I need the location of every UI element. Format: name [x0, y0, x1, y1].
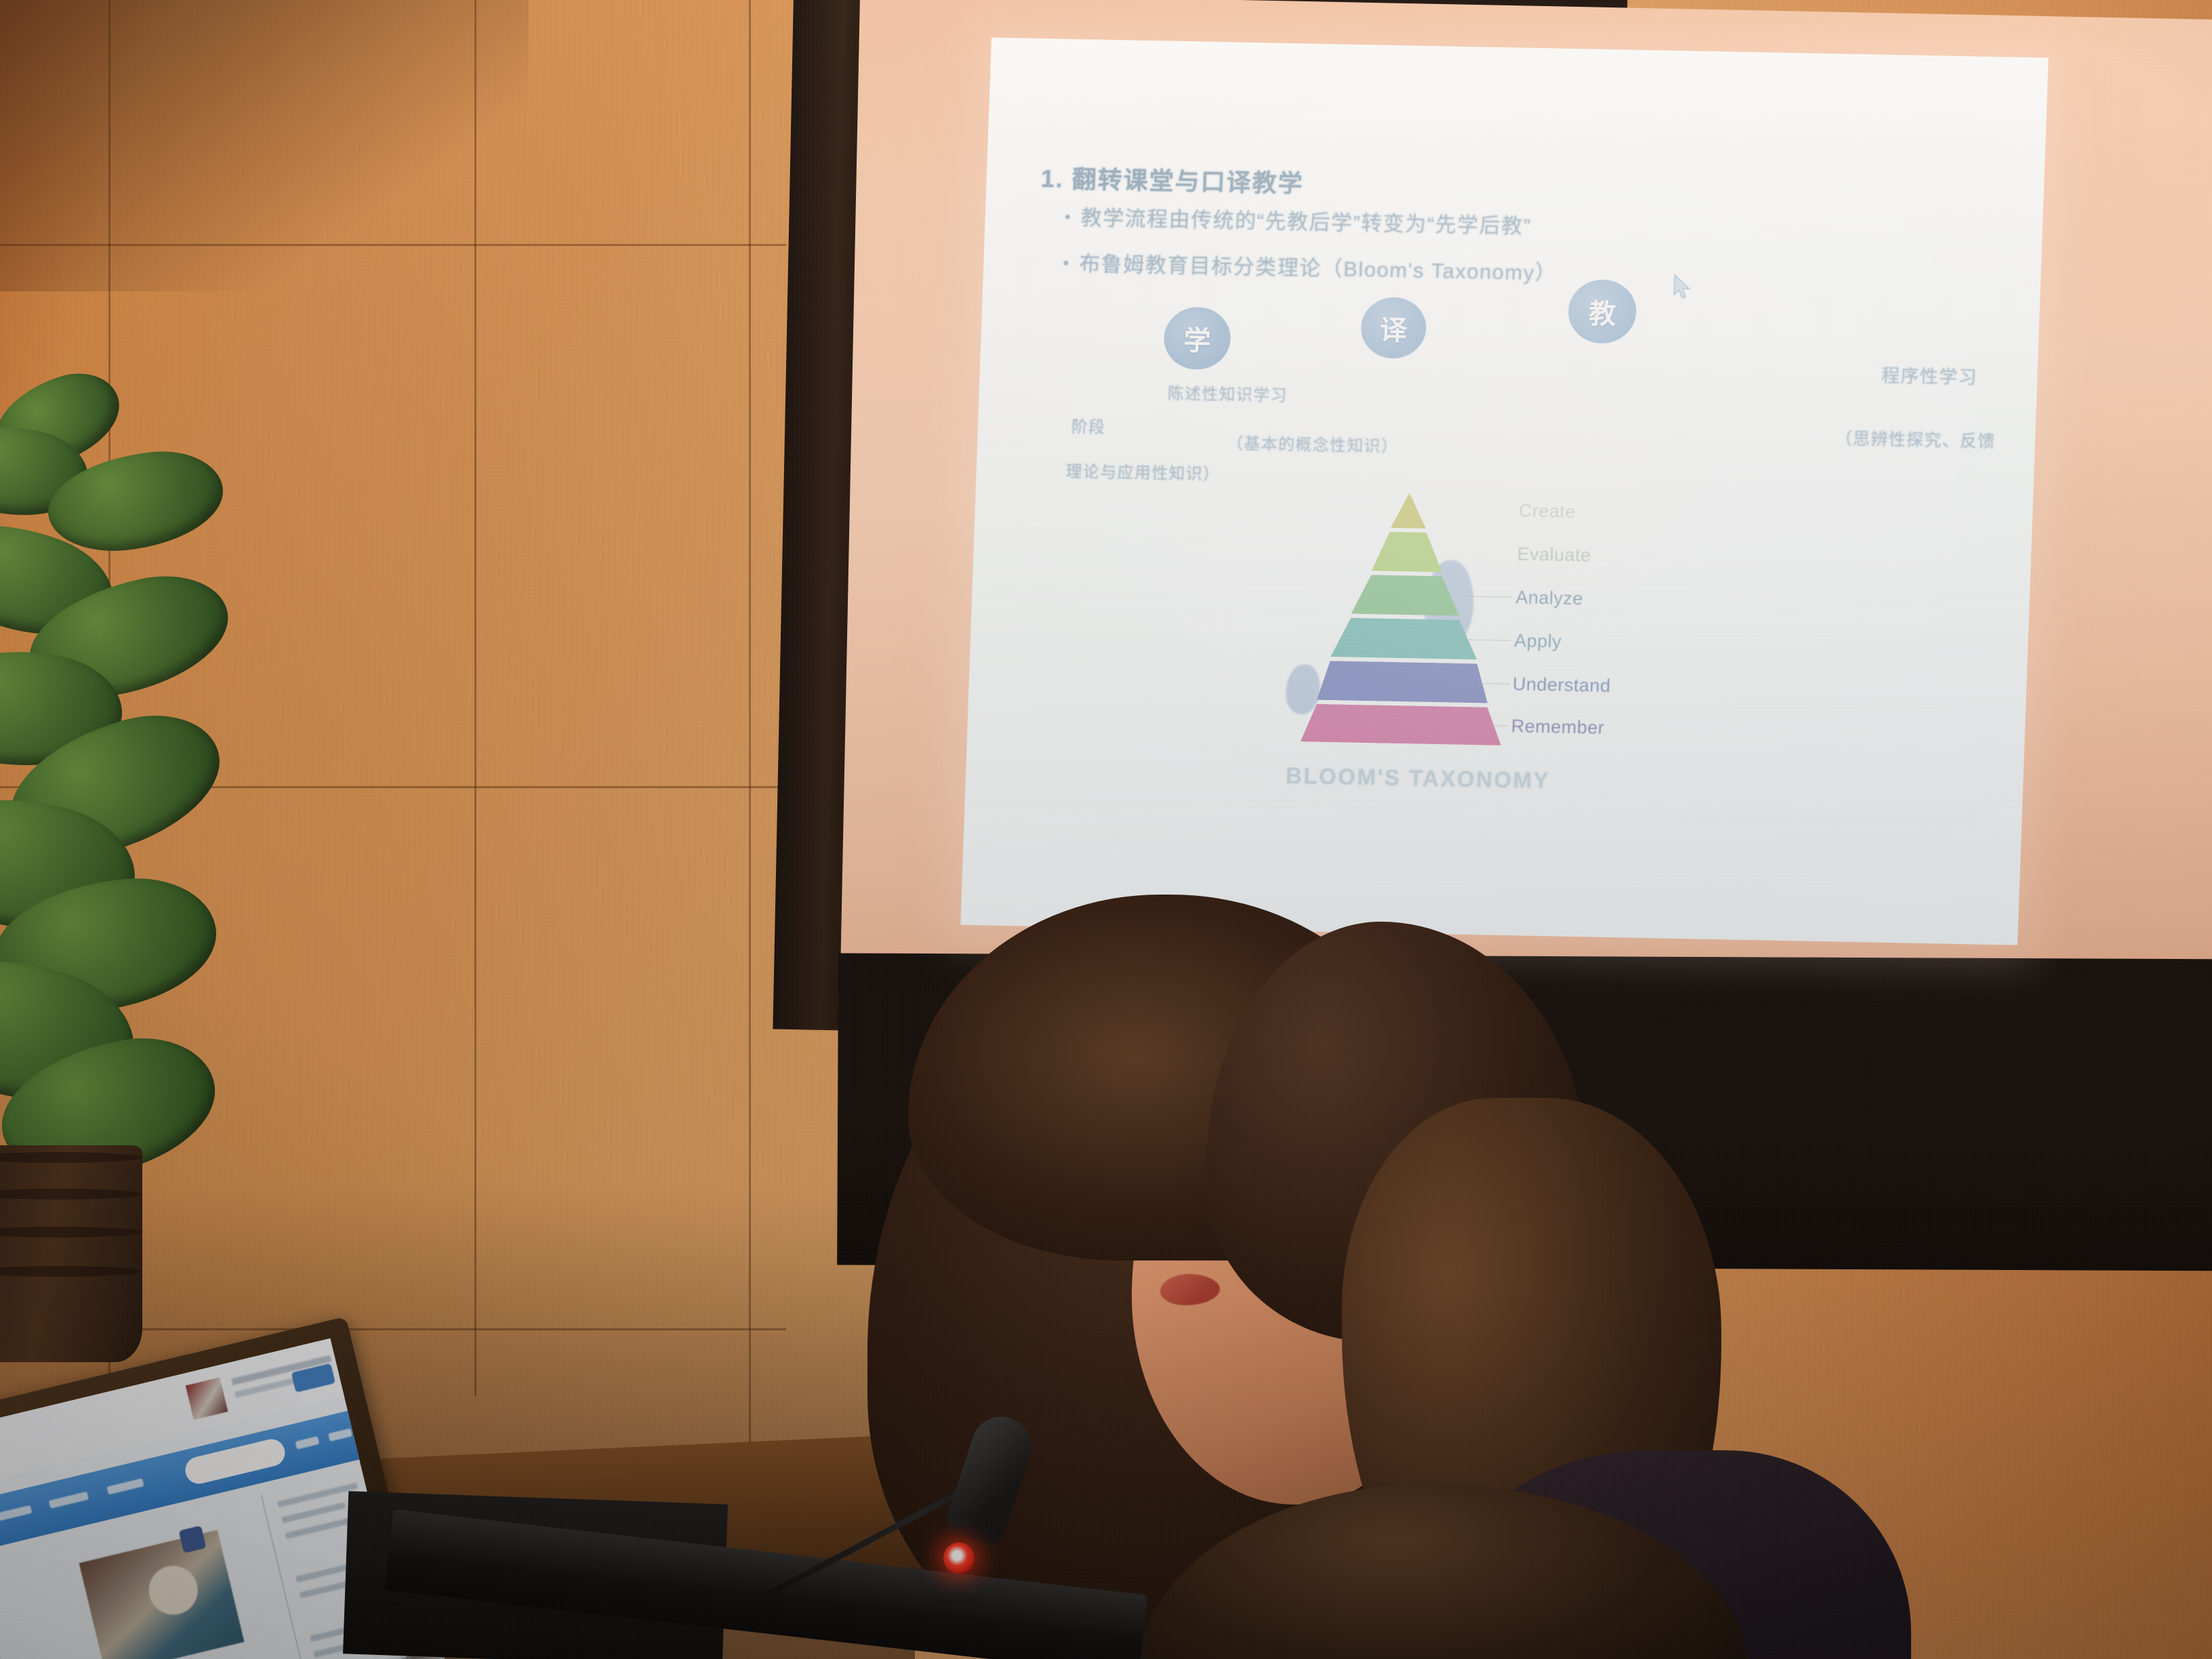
photo-vignette	[0, 0, 2212, 1659]
lecture-hall-photo: 1. 翻转课堂与口译教学 教学流程由传统的“先教后学”转变为“先学后教” 布鲁姆…	[0, 0, 2212, 1659]
